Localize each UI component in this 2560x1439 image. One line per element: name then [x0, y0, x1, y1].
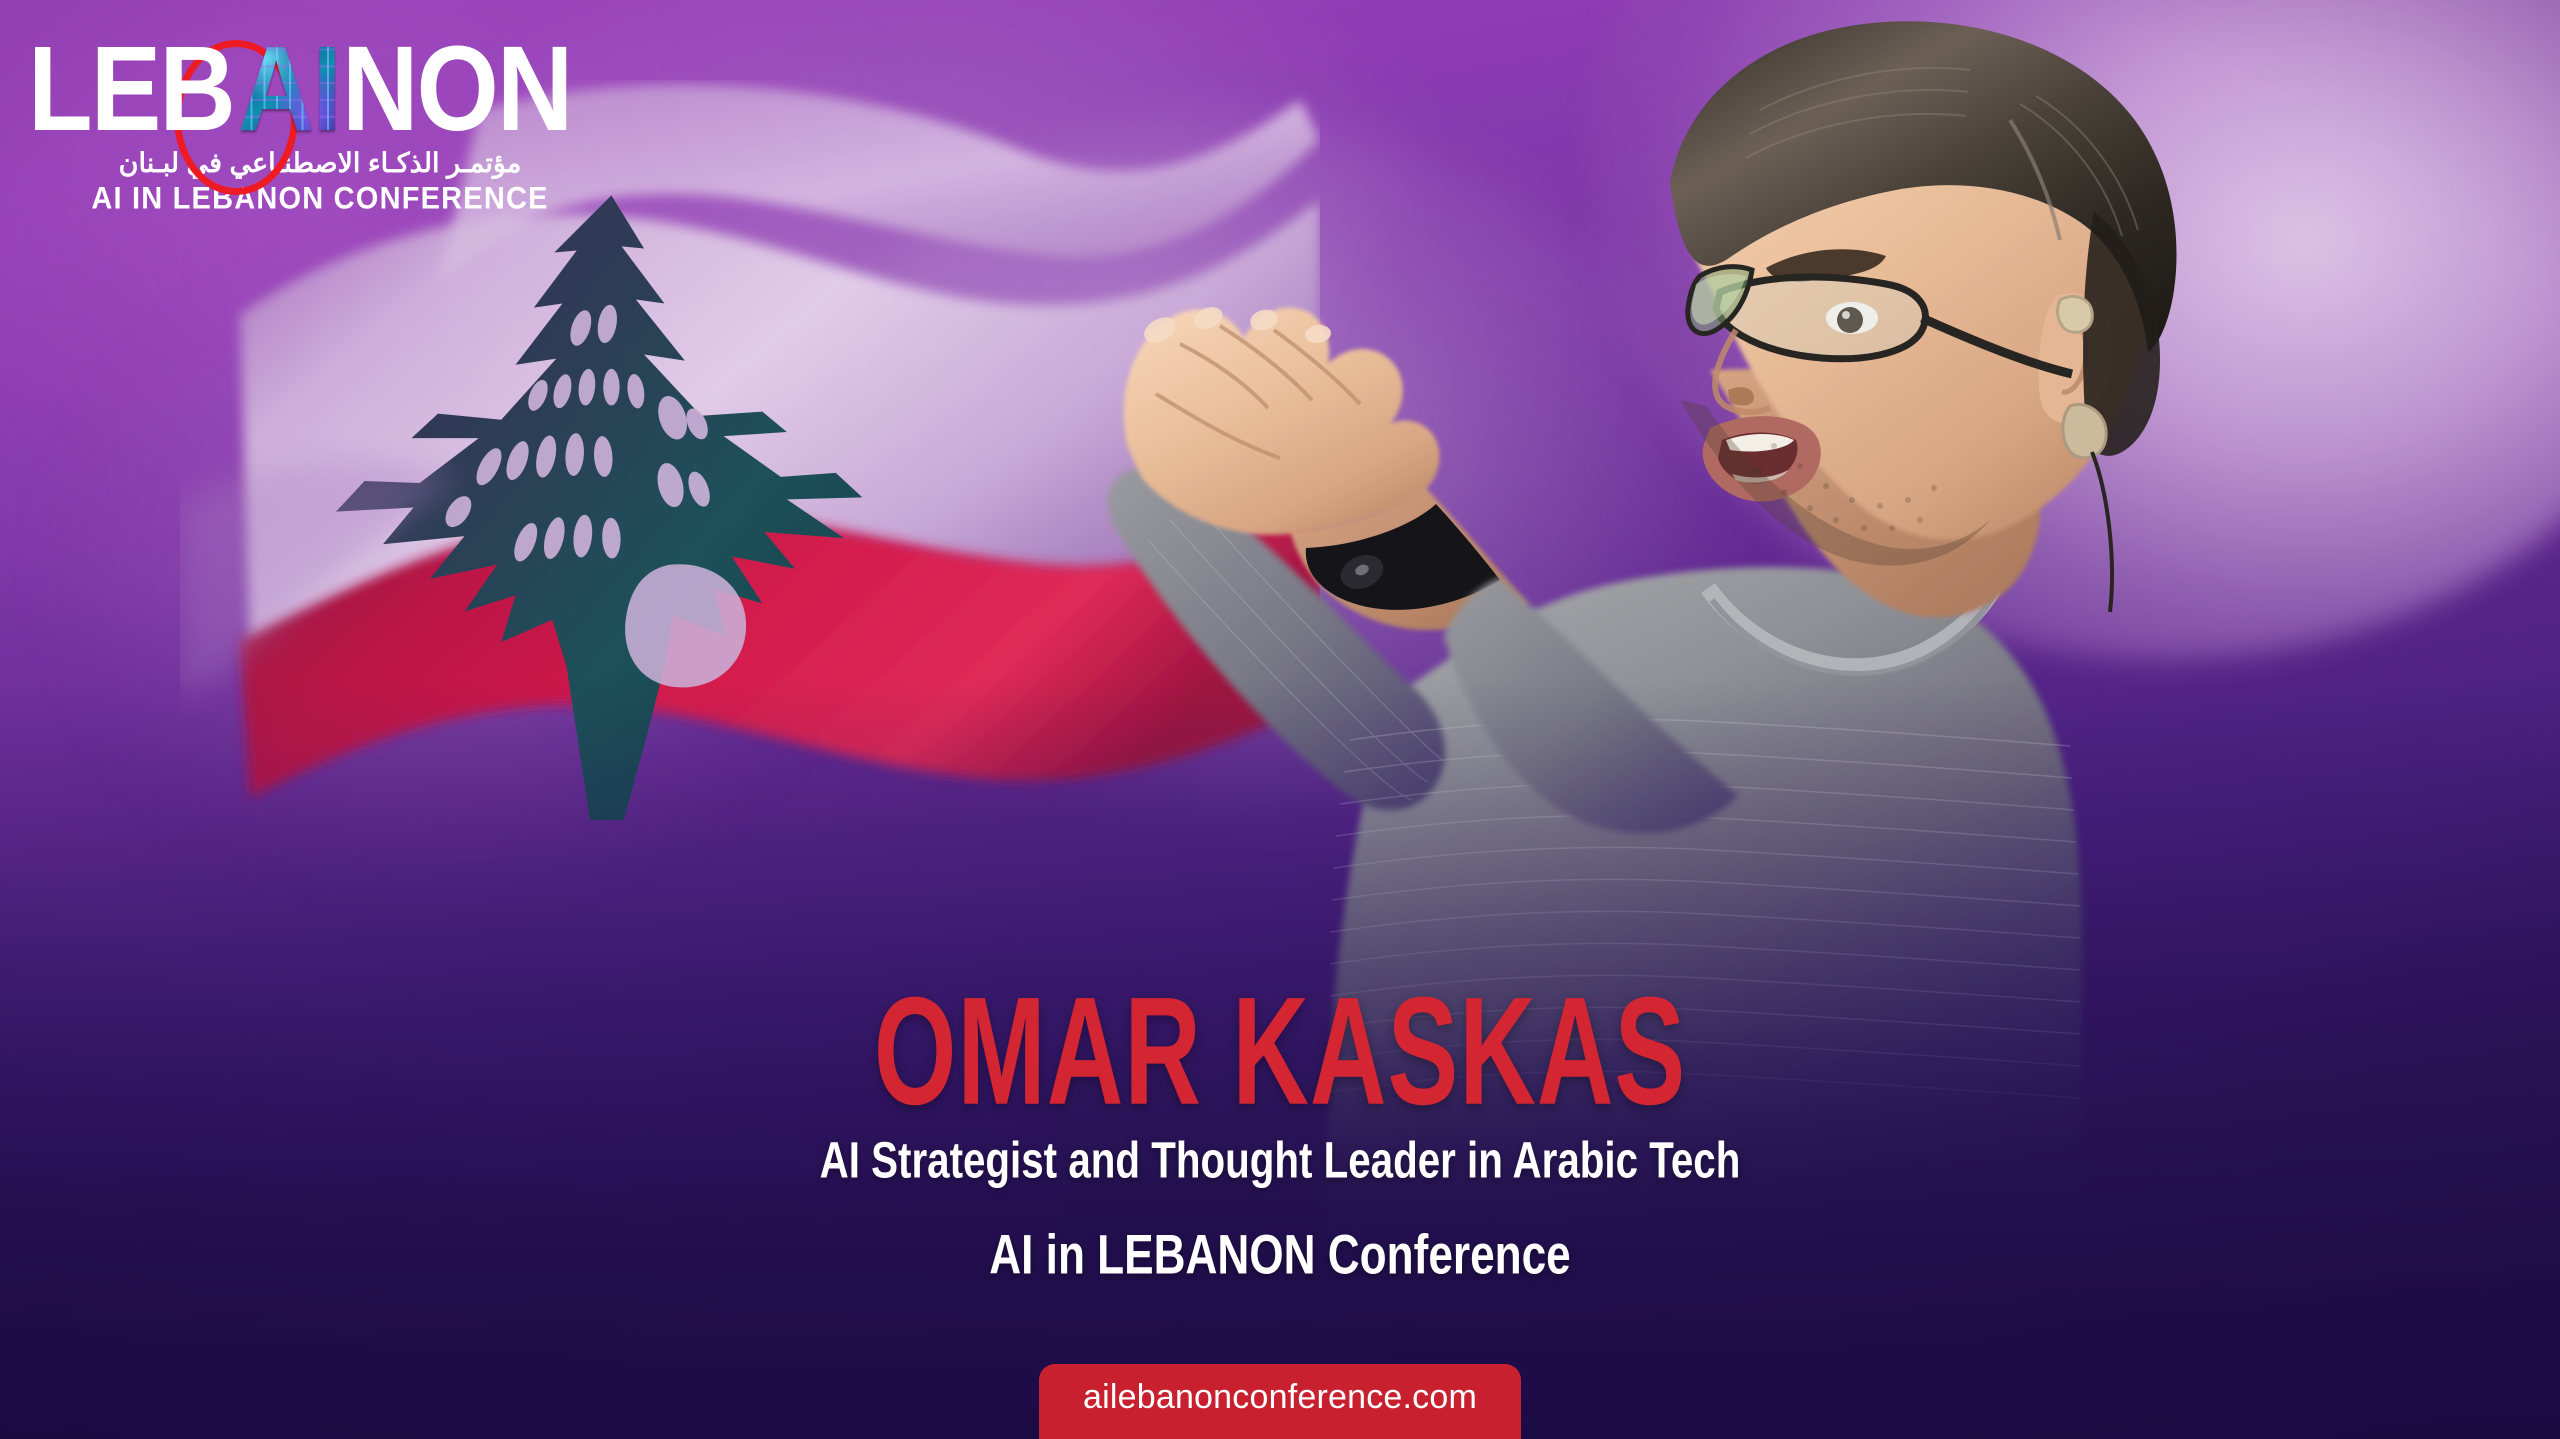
website-url-badge[interactable]: ailebanonconference.com: [1039, 1364, 1521, 1439]
speaker-poster: LEBAINON مؤتمـر الذكـاء الاصطنـاعي في لب…: [0, 0, 2560, 1439]
event-name: AI in LEBANON Conference: [51, 1223, 2509, 1285]
logo-wordmark: LEBAINON: [28, 26, 648, 138]
speaker-role: AI Strategist and Thought Leader in Arab…: [51, 1131, 2509, 1190]
logo-text-leb: LEB: [28, 26, 234, 151]
logo-text-non: NON: [342, 26, 571, 151]
speaker-info-block: OMAR KASKAS AI Strategist and Thought Le…: [0, 975, 2560, 1275]
speaker-name: OMAR KASKAS: [128, 975, 2432, 1128]
logo-text-ai: AI: [238, 26, 340, 151]
